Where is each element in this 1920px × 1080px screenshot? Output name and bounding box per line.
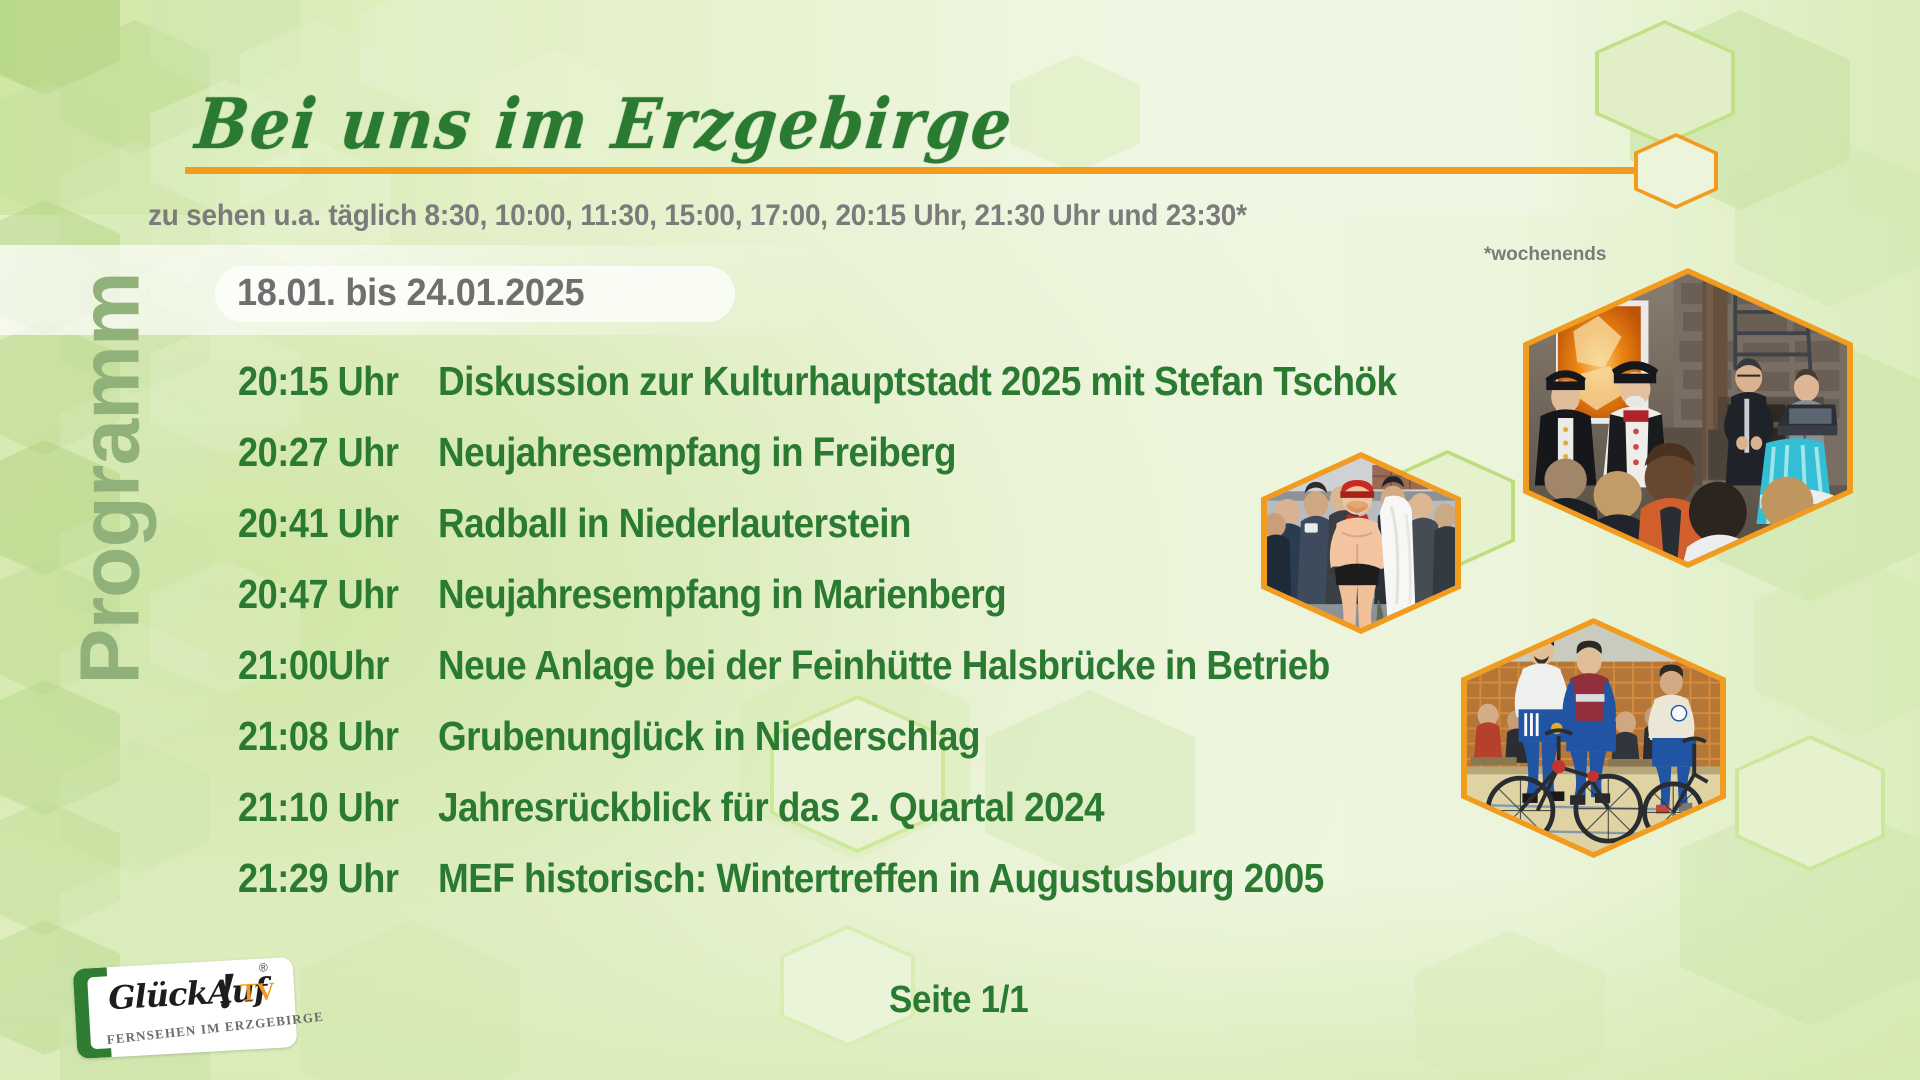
hexagon-outline	[1595, 20, 1735, 146]
page-title: Bei uns im Erzgebirge	[192, 83, 1017, 165]
program-time: 21:10 Uhr	[238, 784, 414, 831]
program-row: 21:29 Uhr MEF historisch: Wintertreffen …	[238, 855, 1528, 926]
hexagon-outline	[1735, 735, 1885, 871]
broadcast-times-line: zu sehen u.a. täglich 8:30, 10:00, 11:30…	[148, 199, 1247, 233]
photo-winterschwimmen	[1261, 452, 1461, 634]
program-row: 20:15 Uhr Diskussion zur Kulturhauptstad…	[238, 358, 1528, 429]
program-row: 21:00Uhr Neue Anlage bei der Feinhütte H…	[238, 642, 1528, 713]
date-range-label: 18.01. bis 24.01.2025	[237, 272, 584, 315]
program-title: Radball in Niederlauterstein	[438, 500, 911, 547]
logo-registered-mark: ®	[258, 960, 268, 974]
sidebar-vertical-label: Programm	[62, 219, 159, 739]
logo-green-band	[73, 967, 112, 1059]
program-title: Neujahresempfang in Marienberg	[438, 571, 1006, 618]
photo-image	[1529, 274, 1847, 562]
logo-tv-label: TV	[240, 978, 276, 1008]
weekend-footnote: *wochenends	[1484, 244, 1606, 266]
program-row: 21:10 Uhr Jahresrückblick für das 2. Qua…	[238, 784, 1528, 855]
program-title: Grubenunglück in Niederschlag	[438, 713, 980, 760]
tv-program-board: Bei uns im Erzgebirge zu sehen u.a. tägl…	[0, 0, 1920, 1080]
title-end-hexagon-icon	[1634, 133, 1718, 209]
gluckauf-tv-logo: GlückAuf ! TV ® FERNSEHEN IM ERZGEBIRGE	[73, 957, 298, 1059]
program-time: 20:15 Uhr	[238, 358, 414, 405]
title-underline-rule	[185, 167, 1665, 174]
program-list: 20:15 Uhr Diskussion zur Kulturhauptstad…	[238, 358, 1528, 926]
program-time: 20:27 Uhr	[238, 429, 414, 476]
program-title: Diskussion zur Kulturhauptstadt 2025 mit…	[438, 358, 1396, 405]
logo-exclamation: !	[216, 964, 239, 1019]
program-time: 20:47 Uhr	[238, 571, 414, 618]
program-title: Neujahresempfang in Freiberg	[438, 429, 956, 476]
page-indicator: Seite 1/1	[889, 979, 1028, 1022]
program-row: 21:08 Uhr Grubenunglück in Niederschlag	[238, 713, 1528, 784]
program-time: 21:29 Uhr	[238, 855, 414, 902]
program-time: 21:08 Uhr	[238, 713, 414, 760]
program-title: Jahresrückblick für das 2. Quartal 2024	[438, 784, 1104, 831]
program-title: Neue Anlage bei der Feinhütte Halsbrücke…	[438, 642, 1330, 689]
program-time: 20:41 Uhr	[238, 500, 414, 547]
program-title: MEF historisch: Wintertreffen in Augustu…	[438, 855, 1324, 902]
program-time: 21:00Uhr	[238, 642, 414, 689]
photo-neujahresempfang	[1523, 268, 1853, 568]
photo-radball	[1461, 618, 1726, 858]
